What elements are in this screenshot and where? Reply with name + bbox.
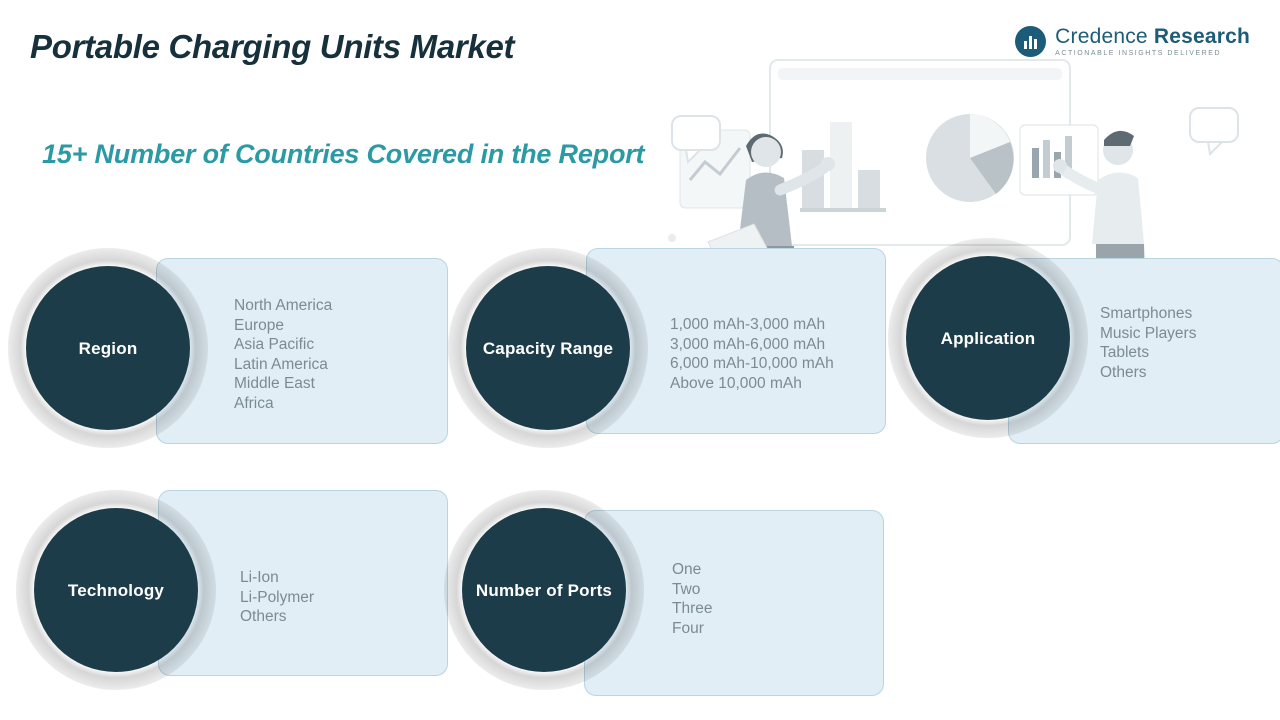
card-capacity-range-items: 1,000 mAh-3,000 mAh 3,000 mAh-6,000 mAh … [670,315,884,393]
card-region[interactable]: Region North America Europe Asia Pacific… [8,248,448,448]
logo-chart-icon [1015,26,1046,57]
card-region-items: North America Europe Asia Pacific Latin … [234,296,444,413]
page-subtitle: 15+ Number of Countries Covered in the R… [42,133,644,176]
card-number-of-ports-label: Number of Ports [462,508,626,672]
logo-tagline: ACTIONABLE INSIGHTS DELIVERED [1055,50,1250,57]
logo-name-light: Credence [1055,25,1148,48]
card-region-label: Region [26,266,190,430]
card-technology-label: Technology [34,508,198,672]
slide-canvas: Portable Charging Units Market 15+ Numbe… [0,0,1280,720]
card-application[interactable]: Application Smartphones Music Players Ta… [888,238,1280,438]
logo-name-bold: Research [1148,25,1250,48]
card-application-items: Smartphones Music Players Tablets Others [1100,304,1280,382]
card-number-of-ports-items: One Two Three Four [672,560,872,638]
card-capacity-range-label: Capacity Range [466,266,630,430]
brand-logo[interactable]: Credence Research ACTIONABLE INSIGHTS DE… [1015,26,1250,57]
card-technology-items: Li-Ion Li-Polymer Others [240,568,440,627]
card-capacity-range[interactable]: Capacity Range 1,000 mAh-3,000 mAh 3,000… [448,248,888,448]
card-application-label: Application [906,256,1070,420]
page-title: Portable Charging Units Market [30,28,514,66]
logo-text: Credence Research ACTIONABLE INSIGHTS DE… [1055,26,1250,57]
card-technology[interactable]: Technology Li-Ion Li-Polymer Others [16,490,456,690]
card-number-of-ports[interactable]: Number of Ports One Two Three Four [444,490,888,690]
